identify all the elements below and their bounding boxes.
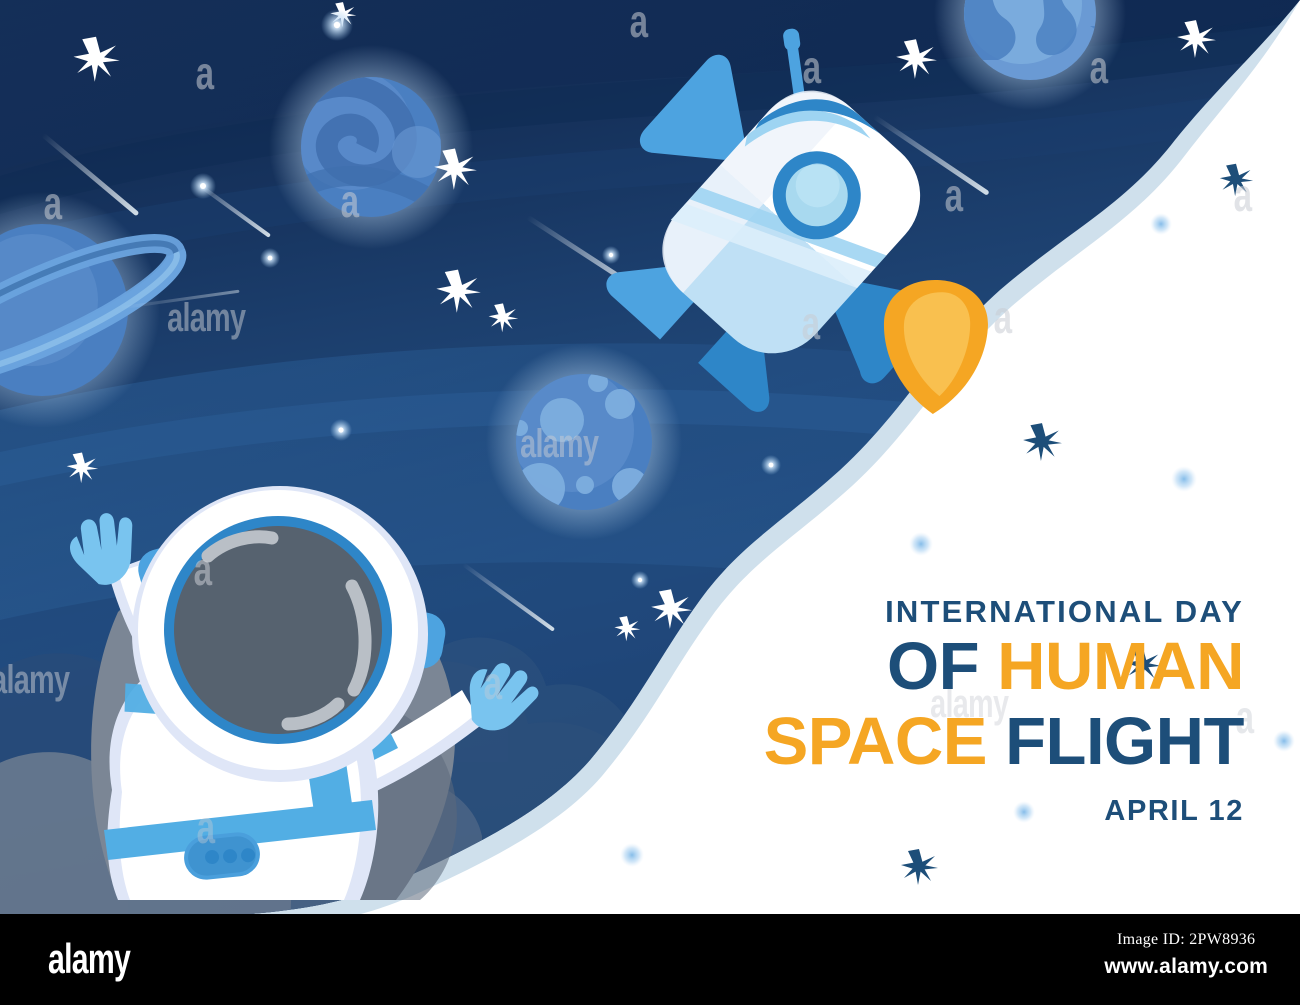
headline-date: APRIL 12 — [764, 797, 1244, 826]
watermark-meta: Image ID: 2PW8936 www.alamy.com — [1104, 931, 1268, 979]
screenshot-root: a alamy a a alamy a a a a a a a a alamy … — [0, 0, 1300, 1005]
poster-headline: INTERNATIONAL DAY OF HUMAN SPACE FLIGHT … — [764, 596, 1244, 826]
headline-flight: FLIGHT — [1005, 704, 1244, 779]
watermark-bar: alamy Image ID: 2PW8936 www.alamy.com — [0, 914, 1300, 1005]
swirl-planet — [269, 45, 473, 249]
crater — [540, 398, 584, 442]
headline-human: HUMAN — [997, 629, 1244, 704]
cratered-moon — [486, 344, 682, 540]
headline-of: OF — [887, 629, 997, 704]
alamy-url-text: www.alamy.com — [1104, 955, 1268, 979]
crater — [576, 476, 594, 494]
crater — [605, 389, 635, 419]
headline-kicker: INTERNATIONAL DAY — [764, 596, 1244, 627]
headline-space: SPACE — [764, 704, 1005, 779]
image-id-text: Image ID: 2PW8936 — [1104, 931, 1268, 949]
headline-line-2: OF HUMAN — [764, 633, 1244, 700]
alamy-logo: alamy — [48, 935, 130, 983]
headline-line-3: SPACE FLIGHT — [764, 708, 1244, 775]
